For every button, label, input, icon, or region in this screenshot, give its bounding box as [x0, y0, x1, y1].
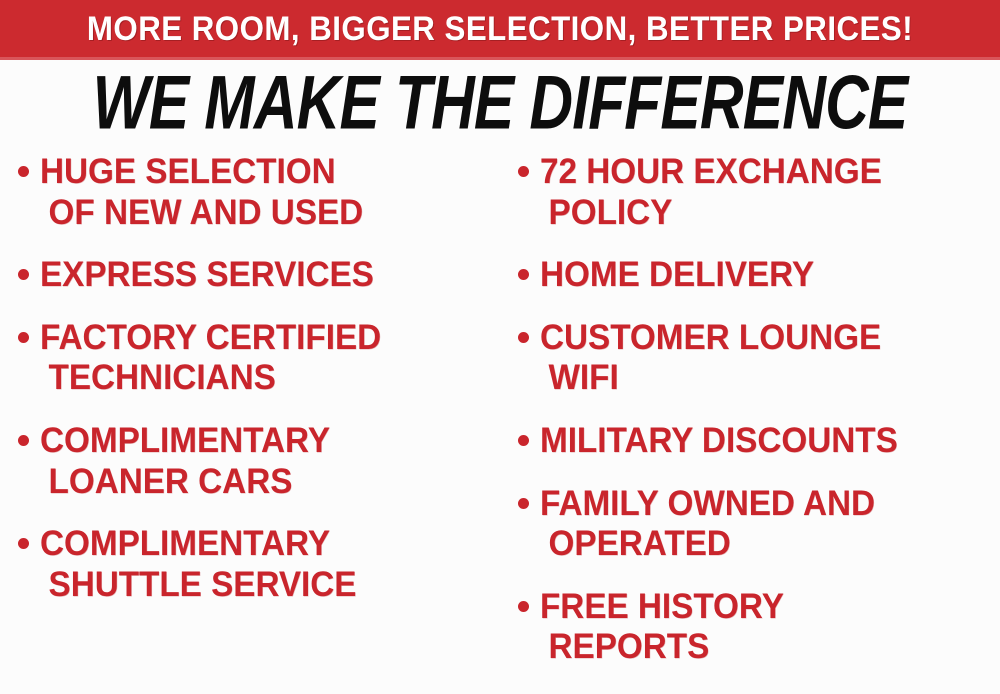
bullet-dot-icon [518, 269, 529, 280]
banner-headline-text: MORE ROOM, BIGGER SELECTION, BETTER PRIC… [87, 12, 913, 46]
list-item-line1: FAMILY OWNED AND [540, 484, 875, 523]
list-item-line1: FACTORY CERTIFIED [40, 318, 381, 357]
list-item-text: FACTORY CERTIFIEDTECHNICIANS [40, 318, 381, 399]
bullet-dot-icon [518, 166, 529, 177]
list-item-text: 72 HOUR EXCHANGEPOLICY [540, 152, 882, 233]
list-item: FREE HISTORYREPORTS [518, 587, 1000, 668]
banner-underline-divider [0, 57, 1000, 60]
list-item-text: COMPLIMENTARYSHUTTLE SERVICE [40, 524, 356, 605]
list-item-line2: WIFI [540, 358, 881, 399]
list-item: 72 HOUR EXCHANGEPOLICY [518, 152, 1000, 233]
list-item: COMPLIMENTARYLOANER CARS [18, 421, 494, 502]
list-item-line1: HOME DELIVERY [540, 255, 814, 294]
list-item-line2: POLICY [540, 193, 882, 234]
benefits-columns: HUGE SELECTIONOF NEW AND USED EXPRESS SE… [0, 152, 1000, 694]
list-item: COMPLIMENTARYSHUTTLE SERVICE [18, 524, 494, 605]
bullet-dot-icon [18, 435, 29, 446]
list-item: HOME DELIVERY [518, 255, 1000, 296]
headline-area: WE MAKE THE DIFFERENCE [0, 64, 1000, 142]
list-item-text: EXPRESS SERVICES [40, 255, 374, 296]
list-item-line1: COMPLIMENTARY [40, 421, 330, 460]
bullet-dot-icon [518, 498, 529, 509]
page-title: WE MAKE THE DIFFERENCE [93, 65, 908, 141]
list-item-text: MILITARY DISCOUNTS [540, 421, 898, 462]
list-item-line2: OF NEW AND USED [40, 193, 363, 234]
bullet-dot-icon [518, 332, 529, 343]
list-item-text: HOME DELIVERY [540, 255, 814, 296]
list-item-line2: REPORTS [540, 627, 784, 668]
list-item-line1: HUGE SELECTION [40, 152, 336, 191]
bullet-dot-icon [518, 435, 529, 446]
bullet-dot-icon [18, 538, 29, 549]
list-item-line1: COMPLIMENTARY [40, 524, 330, 563]
list-item-text: FREE HISTORYREPORTS [540, 587, 784, 668]
bullet-dot-icon [18, 269, 29, 280]
bullet-dot-icon [18, 166, 29, 177]
promotional-poster: MORE ROOM, BIGGER SELECTION, BETTER PRIC… [0, 0, 1000, 694]
list-item: HUGE SELECTIONOF NEW AND USED [18, 152, 494, 233]
list-item-line1: 72 HOUR EXCHANGE [540, 152, 882, 191]
list-item-line1: FREE HISTORY [540, 587, 784, 626]
bullet-dot-icon [518, 601, 529, 612]
list-item: EXPRESS SERVICES [18, 255, 494, 296]
benefits-column-left: HUGE SELECTIONOF NEW AND USED EXPRESS SE… [0, 152, 500, 627]
benefits-column-right: 72 HOUR EXCHANGEPOLICY HOME DELIVERY CUS… [500, 152, 1000, 690]
list-item-line2: SHUTTLE SERVICE [40, 565, 356, 606]
list-item-line2: OPERATED [540, 524, 875, 565]
list-item-text: CUSTOMER LOUNGEWIFI [540, 318, 881, 399]
list-item-line1: EXPRESS SERVICES [40, 255, 374, 294]
list-item-line1: MILITARY DISCOUNTS [540, 421, 898, 460]
list-item: FACTORY CERTIFIEDTECHNICIANS [18, 318, 494, 399]
list-item-text: COMPLIMENTARYLOANER CARS [40, 421, 330, 502]
list-item-text: FAMILY OWNED ANDOPERATED [540, 484, 875, 565]
top-banner: MORE ROOM, BIGGER SELECTION, BETTER PRIC… [0, 0, 1000, 57]
list-item-line1: CUSTOMER LOUNGE [540, 318, 881, 357]
list-item: CUSTOMER LOUNGEWIFI [518, 318, 1000, 399]
list-item: MILITARY DISCOUNTS [518, 421, 1000, 462]
list-item-line2: TECHNICIANS [40, 358, 381, 399]
list-item: FAMILY OWNED ANDOPERATED [518, 484, 1000, 565]
list-item-text: HUGE SELECTIONOF NEW AND USED [40, 152, 363, 233]
list-item-line2: LOANER CARS [40, 462, 330, 503]
bullet-dot-icon [18, 332, 29, 343]
